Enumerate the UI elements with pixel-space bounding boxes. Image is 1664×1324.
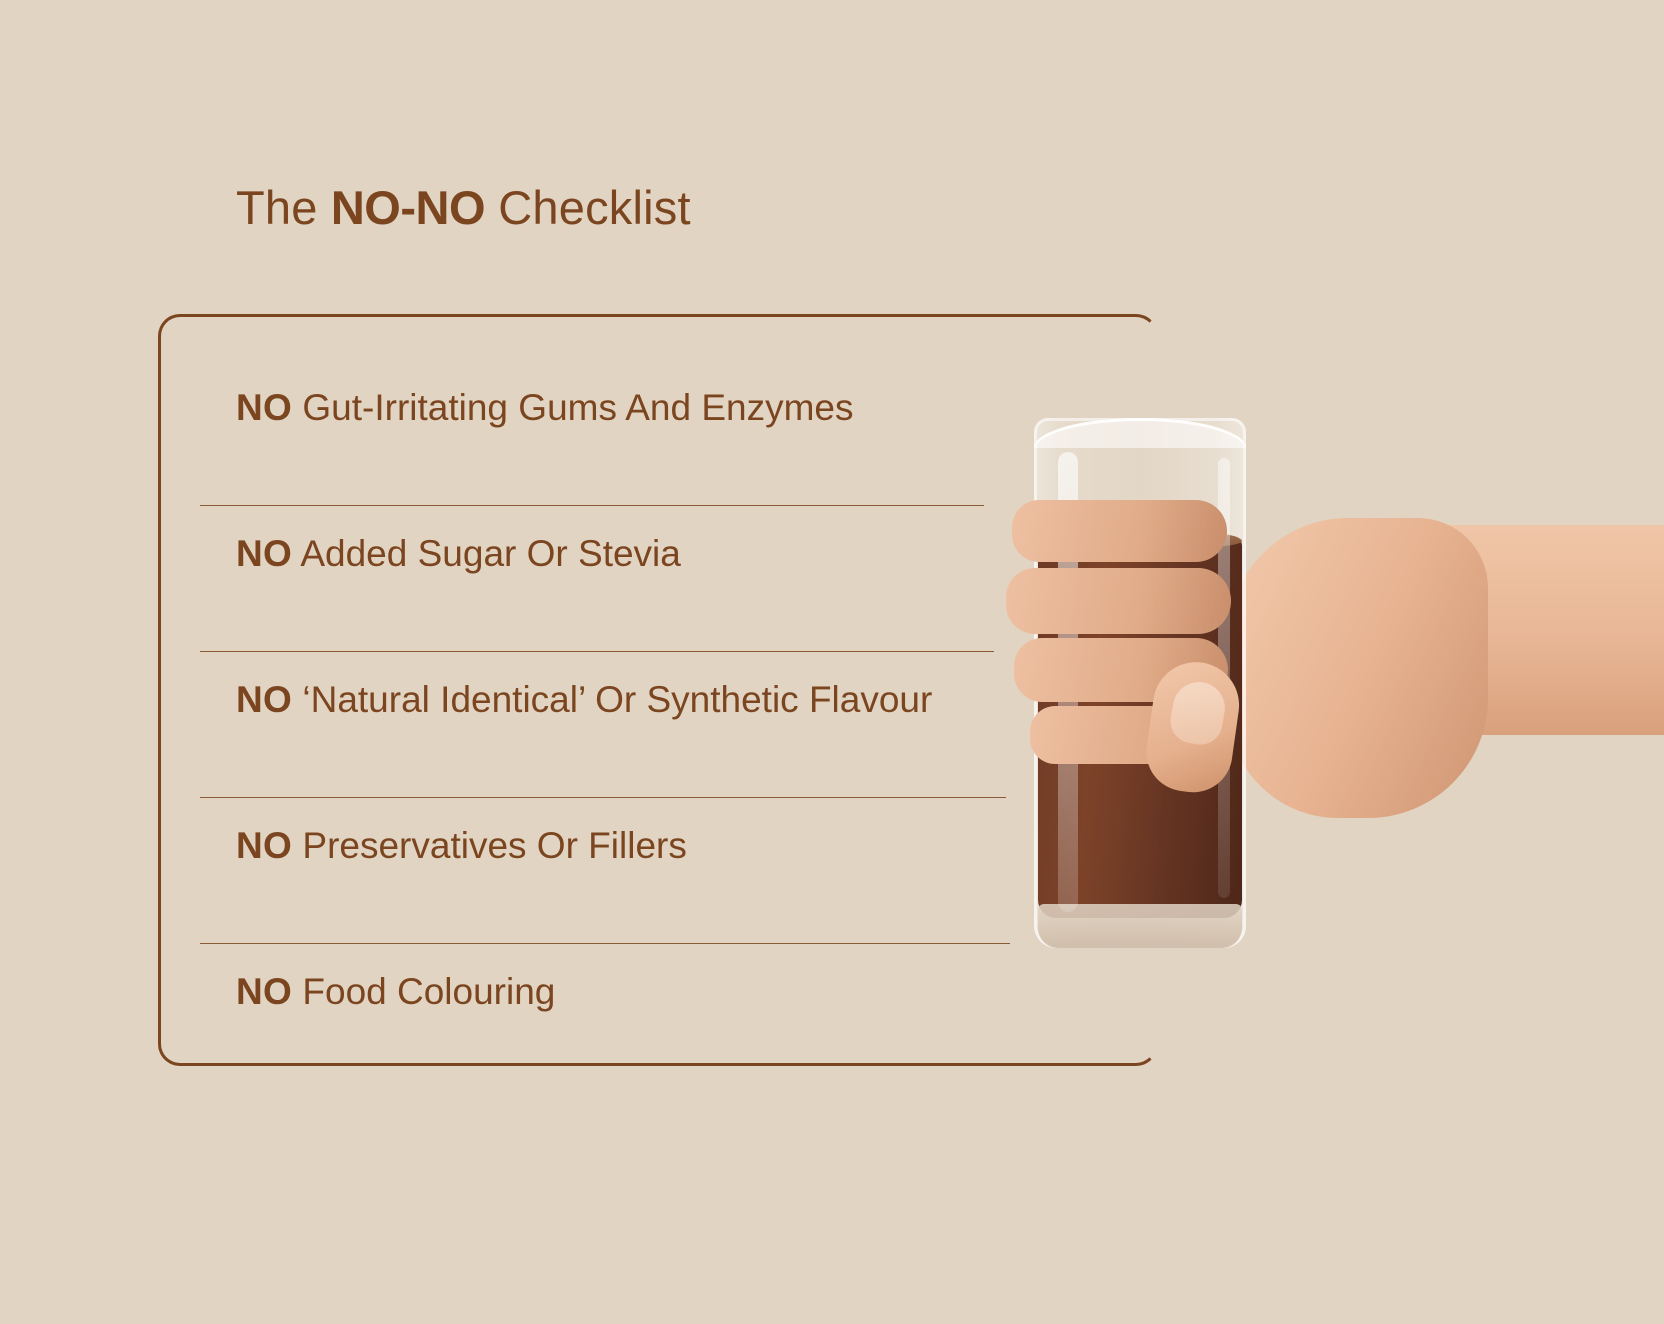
list-item-prefix: NO	[236, 825, 292, 866]
list-item: NO Added Sugar Or Stevia	[200, 506, 1100, 652]
page-title-emphasis: NO-NO	[331, 181, 485, 234]
list-item-label: Gut-Irritating Gums And Enzymes	[292, 387, 853, 428]
list-item-label: Added Sugar Or Stevia	[292, 533, 681, 574]
list-item-prefix: NO	[236, 533, 292, 574]
list-item-label: Preservatives Or Fillers	[292, 825, 687, 866]
list-item-prefix: NO	[236, 387, 292, 428]
list-item-label: Food Colouring	[292, 971, 555, 1012]
list-item-text: NO Added Sugar Or Stevia	[236, 532, 681, 576]
checklist-graphic: The NO-NO Checklist NO Gut-Irritating Gu…	[0, 0, 1664, 1324]
list-item: NO Gut-Irritating Gums And Enzymes	[200, 360, 1100, 506]
list-item: NO ‘Natural Identical’ Or Synthetic Flav…	[200, 652, 1100, 798]
palm	[1228, 518, 1488, 818]
page-title-prefix: The	[236, 181, 331, 234]
list-item: NO Food Colouring	[200, 944, 1100, 1090]
product-image	[1000, 400, 1664, 1000]
index-finger	[1012, 500, 1227, 562]
list-item: NO Preservatives Or Fillers	[200, 798, 1100, 944]
checklist: NO Gut-Irritating Gums And Enzymes NO Ad…	[200, 360, 1100, 1090]
page-title: The NO-NO Checklist	[236, 178, 691, 238]
page-title-suffix: Checklist	[485, 181, 691, 234]
glass-rim	[1034, 418, 1246, 448]
list-item-text: NO Food Colouring	[236, 970, 555, 1014]
list-item-label: ‘Natural Identical’ Or Synthetic Flavour	[292, 679, 932, 720]
list-item-prefix: NO	[236, 679, 292, 720]
list-item-text: NO Gut-Irritating Gums And Enzymes	[236, 386, 853, 430]
list-item-prefix: NO	[236, 971, 292, 1012]
list-item-text: NO Preservatives Or Fillers	[236, 824, 687, 868]
middle-finger	[1006, 568, 1231, 634]
list-item-text: NO ‘Natural Identical’ Or Synthetic Flav…	[236, 678, 932, 722]
